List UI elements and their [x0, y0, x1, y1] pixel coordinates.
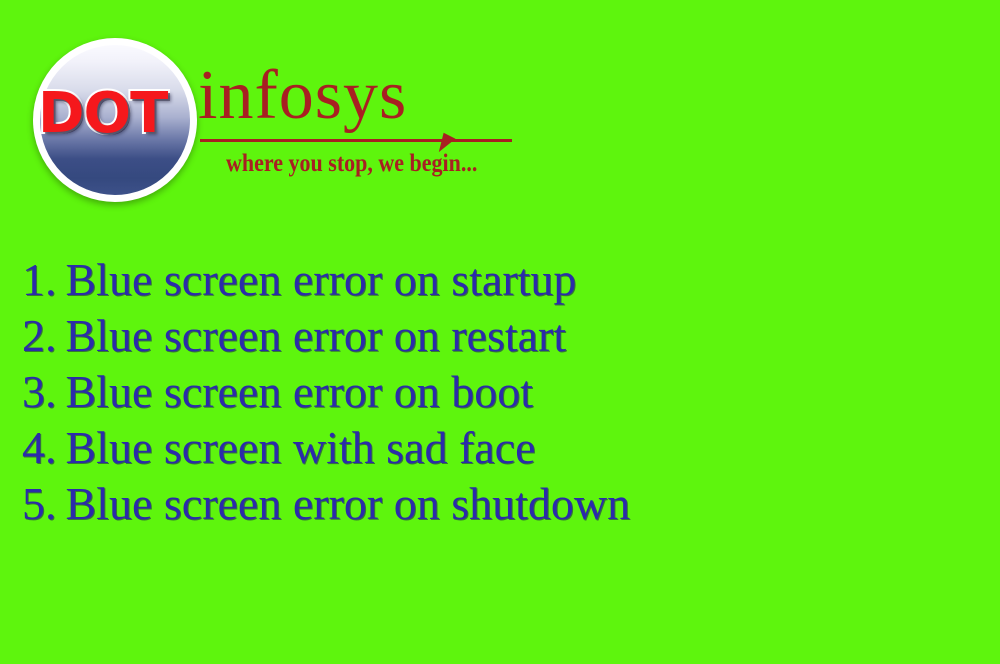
slide-canvas: DOT infosys where you stop, we begin... … — [0, 0, 1000, 664]
logo-tagline: where you stop, we begin... — [226, 150, 477, 178]
wordmark-underline — [200, 139, 512, 142]
list-item-number: 3. — [22, 366, 57, 417]
list-item-number: 2. — [22, 310, 57, 361]
list-item-label: Blue screen with sad face — [66, 422, 536, 473]
list-item-number: 5. — [22, 478, 57, 529]
list-item-label: Blue screen error on shutdown — [66, 478, 631, 529]
list-item-label: Blue screen error on restart — [66, 310, 567, 361]
list-item: 5.Blue screen error on shutdown — [22, 476, 962, 532]
wordmark-infosys: infosys — [198, 60, 538, 132]
list-item: 1.Blue screen error on startup — [22, 252, 962, 308]
issue-list: 1.Blue screen error on startup 2.Blue sc… — [22, 252, 962, 532]
list-item: 3.Blue screen error on boot — [22, 364, 962, 420]
wordmark-group: infosys where you stop, we begin... — [198, 60, 538, 132]
list-item-label: Blue screen error on startup — [66, 254, 577, 305]
list-item: 4.Blue screen with sad face — [22, 420, 962, 476]
list-item: 2.Blue screen error on restart — [22, 308, 962, 364]
list-item-label: Blue screen error on boot — [66, 366, 534, 417]
company-logo: DOT infosys where you stop, we begin... — [30, 34, 550, 209]
list-item-number: 4. — [22, 422, 57, 473]
list-item-number: 1. — [22, 254, 57, 305]
